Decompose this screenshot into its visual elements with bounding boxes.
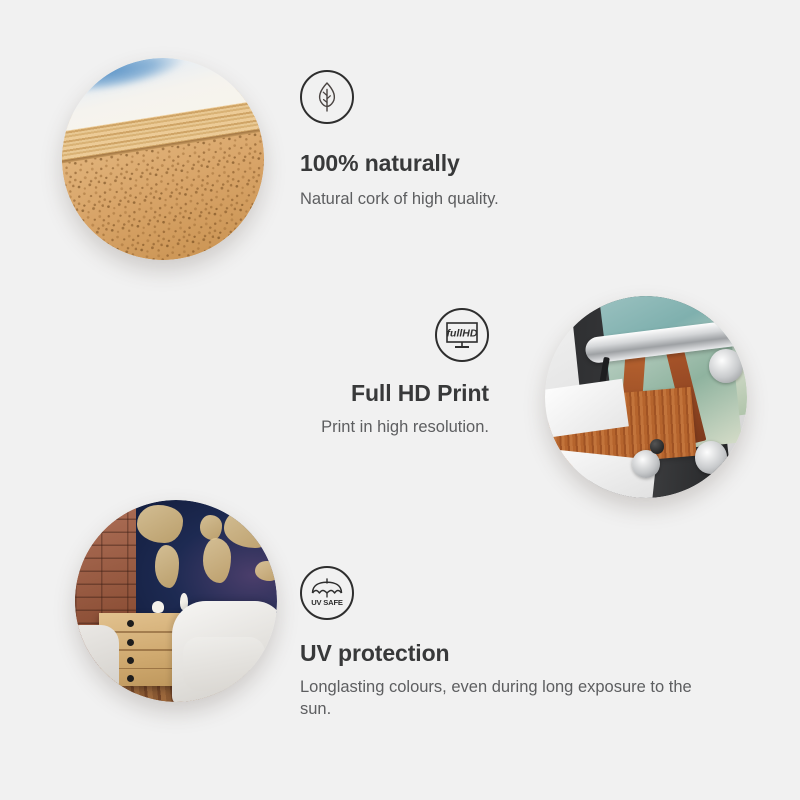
map-continent-europe bbox=[200, 515, 223, 540]
feature-description: Print in high resolution. bbox=[259, 416, 489, 438]
feature-uv: UV SAFE UV protection Longlasting colour… bbox=[300, 566, 696, 720]
uv-umbrella-icon: UV SAFE bbox=[300, 566, 354, 620]
map-continent-north-america bbox=[137, 505, 182, 543]
fullhd-monitor-icon: fullHD bbox=[435, 308, 489, 362]
map-continent-south-america bbox=[155, 545, 179, 588]
svg-text:fullHD: fullHD bbox=[447, 328, 478, 340]
map-continent-australia bbox=[255, 561, 277, 581]
feature-title: Full HD Print bbox=[259, 380, 489, 408]
map-continent-asia bbox=[224, 508, 276, 548]
printer-knob bbox=[650, 439, 664, 453]
white-armchair-left bbox=[75, 625, 119, 694]
leaf-icon bbox=[300, 70, 354, 124]
map-continent-africa bbox=[203, 538, 231, 583]
feature-description: Natural cork of high quality. bbox=[300, 188, 499, 210]
feature-natural: 100% naturally Natural cork of high qual… bbox=[300, 70, 499, 210]
feature-description: Longlasting colours, even during long ex… bbox=[300, 676, 696, 721]
printer-wheel-right bbox=[709, 349, 743, 383]
svg-text:UV SAFE: UV SAFE bbox=[311, 598, 343, 607]
feature-title: 100% naturally bbox=[300, 150, 499, 178]
world-map-mural-room-photo bbox=[75, 500, 277, 702]
printer-wheel-bottom-right bbox=[695, 441, 727, 473]
cork-board-closeup-photo bbox=[62, 58, 264, 260]
feature-title: UV protection bbox=[300, 640, 696, 668]
feature-fullhd: fullHD Full HD Print Print in high resol… bbox=[259, 308, 489, 438]
white-armchair-right bbox=[172, 601, 277, 702]
printer-wheel-center bbox=[632, 450, 660, 478]
dresser-decoration-globe bbox=[152, 601, 164, 613]
large-format-printer-photo bbox=[545, 296, 747, 498]
feature-banner: 100% naturally Natural cork of high qual… bbox=[0, 0, 800, 800]
world-map-mural bbox=[123, 500, 277, 613]
